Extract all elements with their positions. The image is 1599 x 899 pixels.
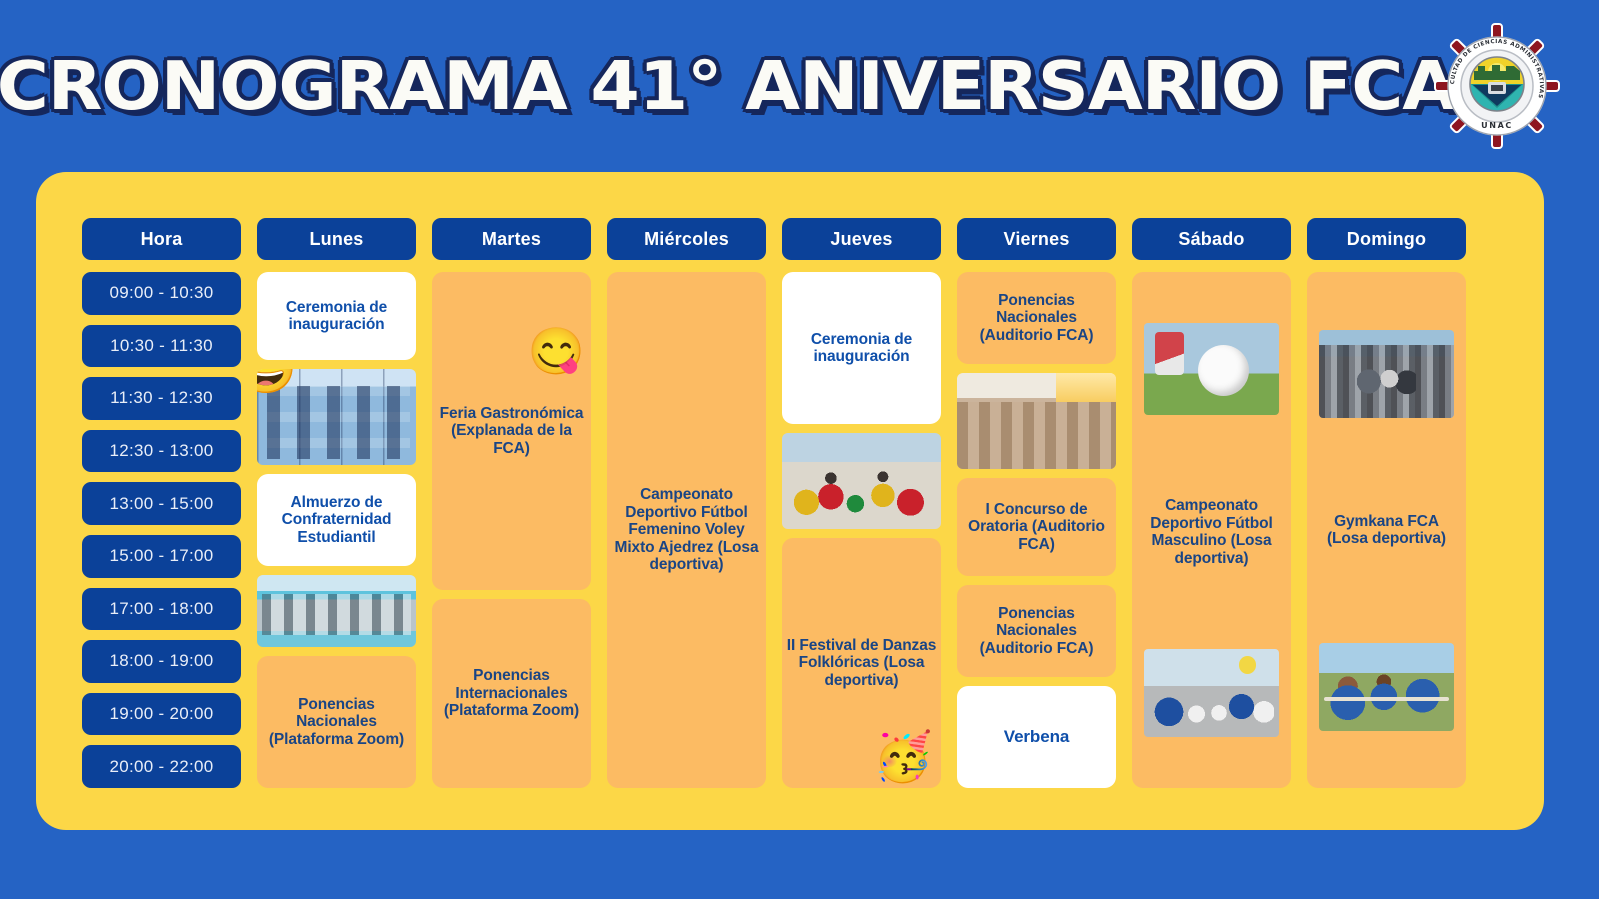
unac-fca-logo: FACULTAD DE CIENCIAS ADMINISTRATIVAS UNA…	[1433, 22, 1561, 150]
schedule-panel: Hora 09:00 - 10:30 10:30 - 11:30 11:30 -…	[36, 172, 1544, 830]
folkloric-dancers-photo	[782, 433, 941, 529]
column-header-domingo: Domingo	[1307, 218, 1466, 260]
event-card: Verbena	[957, 686, 1116, 788]
martes-events: 😋 Feria Gastronómica (Explanada de la FC…	[432, 272, 591, 788]
auditorium-seats-photo	[957, 373, 1116, 469]
event-title: Ponencias Nacionales (Auditorio FCA)	[961, 605, 1112, 658]
event-card: Campeonato Deportivo Fútbol Masculino (L…	[1132, 272, 1291, 788]
event-card: Gymkana FCA (Losa deportiva)	[1307, 272, 1466, 788]
time-slot: 09:00 - 10:30	[82, 272, 241, 315]
event-card: I Concurso de Oratoria (Auditorio FCA)	[957, 478, 1116, 576]
column-martes: Martes 😋 Feria Gastronómica (Explanada d…	[432, 218, 591, 788]
event-card: 😋 Feria Gastronómica (Explanada de la FC…	[432, 272, 591, 590]
page-title: CRONOGRAMA 41° ANIVERSARIO FCA	[0, 47, 1456, 125]
time-slot: 19:00 - 20:00	[82, 693, 241, 736]
time-slot-list: 09:00 - 10:30 10:30 - 11:30 11:30 - 12:3…	[82, 272, 241, 788]
volleyball-match-photo	[1144, 649, 1279, 737]
time-slot: 17:00 - 18:00	[82, 588, 241, 631]
column-header-jueves: Jueves	[782, 218, 941, 260]
event-title: II Festival de Danzas Folklóricas (Losa …	[786, 637, 937, 690]
page-header: CRONOGRAMA 41° ANIVERSARIO FCA	[0, 0, 1599, 172]
time-slot: 18:00 - 19:00	[82, 640, 241, 683]
event-card: Ceremonia de inauguración	[257, 272, 416, 360]
time-slot: 11:30 - 12:30	[82, 377, 241, 420]
jueves-events: Ceremonia de inauguración II Festival de…	[782, 272, 941, 788]
miercoles-events: Campeonato Deportivo Fútbol Femenino Vol…	[607, 272, 766, 788]
event-title: Ponencias Nacionales (Plataforma Zoom)	[261, 696, 412, 749]
column-domingo: Domingo Gymkana FCA (Losa deportiva)	[1307, 218, 1466, 788]
time-slot: 20:00 - 22:00	[82, 745, 241, 788]
column-hora: Hora 09:00 - 10:30 10:30 - 11:30 11:30 -…	[82, 218, 241, 788]
soccer-ball-photo	[1144, 323, 1279, 415]
column-sabado: Sábado Campeonato Deportivo Fútbol Mascu…	[1132, 218, 1291, 788]
viernes-events: Ponencias Nacionales (Auditorio FCA) I C…	[957, 272, 1116, 788]
event-card: Ponencias Internacionales (Plataforma Zo…	[432, 599, 591, 788]
column-header-hora: Hora	[82, 218, 241, 260]
event-title: Feria Gastronómica (Explanada de la FCA)	[436, 405, 587, 458]
event-title: Ceremonia de inauguración	[261, 299, 412, 334]
yum-face-emoji-icon: 😋	[528, 328, 585, 374]
column-viernes: Viernes Ponencias Nacionales (Auditorio …	[957, 218, 1116, 788]
event-card: Campeonato Deportivo Fútbol Femenino Vol…	[607, 272, 766, 788]
event-title: Campeonato Deportivo Fútbol Masculino (L…	[1138, 497, 1285, 567]
lunes-events: Ceremonia de inauguración 🤩 Almuerzo de …	[257, 272, 416, 788]
logo-bottom-text: UNAC	[1481, 121, 1513, 130]
time-slot: 15:00 - 17:00	[82, 535, 241, 578]
event-card: Ponencias Nacionales (Auditorio FCA)	[957, 585, 1116, 677]
event-card: Ceremonia de inauguración	[782, 272, 941, 424]
column-jueves: Jueves Ceremonia de inauguración II Fest…	[782, 218, 941, 788]
star-struck-emoji-icon: 🤩	[257, 369, 297, 393]
tug-of-war-photo	[1319, 643, 1454, 731]
schedule-grid: Hora 09:00 - 10:30 10:30 - 11:30 11:30 -…	[82, 218, 1498, 788]
column-header-sabado: Sábado	[1132, 218, 1291, 260]
event-title: Ponencias Internacionales (Plataforma Zo…	[436, 667, 587, 720]
column-header-lunes: Lunes	[257, 218, 416, 260]
event-title: Almuerzo de Confraternidad Estudiantil	[261, 494, 412, 547]
event-card: Ponencias Nacionales (Plataforma Zoom)	[257, 656, 416, 788]
event-title: Campeonato Deportivo Fútbol Femenino Vol…	[611, 486, 762, 574]
column-miercoles: Miércoles Campeonato Deportivo Fútbol Fe…	[607, 218, 766, 788]
time-slot: 13:00 - 15:00	[82, 482, 241, 525]
event-title: Gymkana FCA (Losa deportiva)	[1313, 513, 1460, 548]
event-title: I Concurso de Oratoria (Auditorio FCA)	[961, 501, 1112, 554]
column-header-miercoles: Miércoles	[607, 218, 766, 260]
column-header-viernes: Viernes	[957, 218, 1116, 260]
student-crowd-photo	[1319, 330, 1454, 418]
event-title: Ceremonia de inauguración	[786, 331, 937, 366]
column-lunes: Lunes Ceremonia de inauguración 🤩 Almuer…	[257, 218, 416, 788]
fca-building-photo: 🤩	[257, 369, 416, 465]
sabado-events: Campeonato Deportivo Fútbol Masculino (L…	[1132, 272, 1291, 788]
event-card: Ponencias Nacionales (Auditorio FCA)	[957, 272, 1116, 364]
fca-pavilion-photo	[257, 575, 416, 647]
event-title: Ponencias Nacionales (Auditorio FCA)	[961, 292, 1112, 345]
event-title: Verbena	[1004, 727, 1069, 746]
time-slot: 10:30 - 11:30	[82, 325, 241, 368]
time-slot: 12:30 - 13:00	[82, 430, 241, 473]
domingo-events: Gymkana FCA (Losa deportiva)	[1307, 272, 1466, 788]
event-card: II Festival de Danzas Folklóricas (Losa …	[782, 538, 941, 788]
column-header-martes: Martes	[432, 218, 591, 260]
event-card: Almuerzo de Confraternidad Estudiantil	[257, 474, 416, 566]
partying-face-emoji-icon: 🥳	[873, 734, 933, 782]
